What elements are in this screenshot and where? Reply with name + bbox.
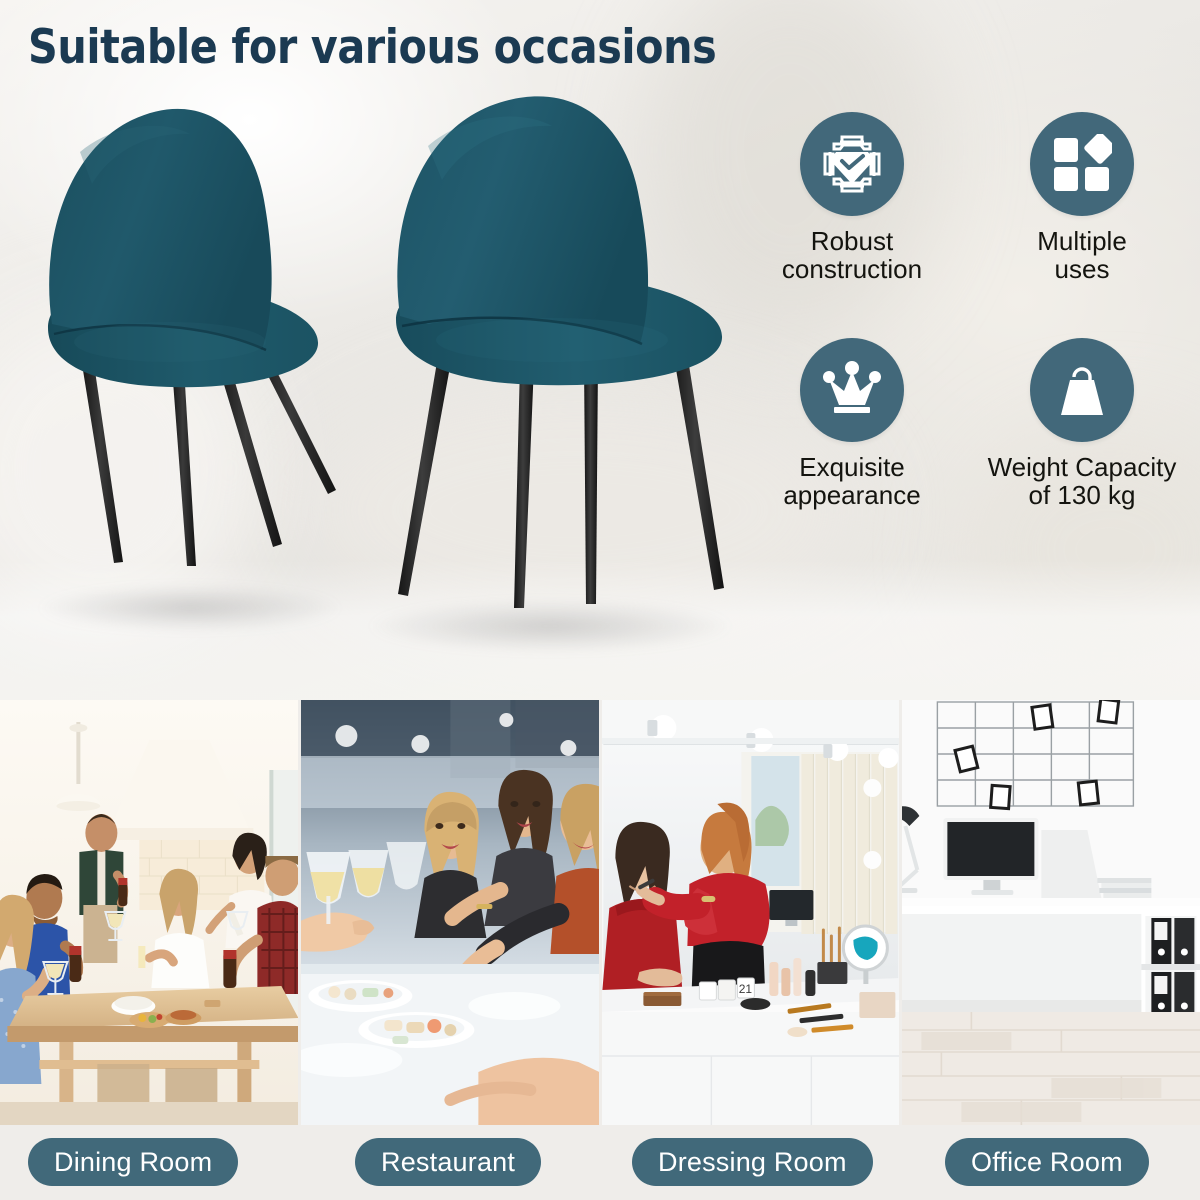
- svg-text:21: 21: [738, 982, 752, 996]
- page-title: Suitable for various occasions: [28, 20, 716, 75]
- feature-label: Exquisite appearance: [783, 454, 920, 509]
- scene-photo-dressing-room: 21: [602, 700, 900, 1125]
- hero-banner: Suitable for various occasions: [0, 0, 1200, 700]
- feature-list: Robust construction Multiple uses: [742, 112, 1192, 542]
- scene-photo-dining-room: [0, 700, 298, 1125]
- chair-illustration: [20, 92, 350, 612]
- shield-check-icon: [800, 112, 904, 216]
- chair-backrest: [49, 109, 271, 350]
- scene-photo-restaurant: [301, 700, 599, 1125]
- caption-pill-office-room[interactable]: Office Room: [945, 1138, 1149, 1186]
- feature-exquisite-appearance: Exquisite appearance: [742, 338, 962, 542]
- lifestyle-photo-strip: 21: [0, 700, 1200, 1125]
- caption-pill-dining-room[interactable]: Dining Room: [28, 1138, 238, 1186]
- product-chair-1: [20, 92, 350, 612]
- feature-label: Robust construction: [782, 228, 922, 283]
- multiple-squares-icon: [1030, 112, 1134, 216]
- crown-icon: [800, 338, 904, 442]
- scene-photo-office-room: [902, 700, 1200, 1125]
- chair-backrest: [397, 96, 648, 344]
- product-chair-2: [372, 88, 744, 633]
- chair-legs: [398, 346, 724, 608]
- scene-caption-row: Dining Room Restaurant Dressing Room Off…: [0, 1125, 1200, 1200]
- chair-illustration: [372, 88, 744, 633]
- feature-label: Multiple uses: [1037, 228, 1127, 283]
- feature-robust-construction: Robust construction: [742, 112, 962, 316]
- caption-pill-restaurant[interactable]: Restaurant: [355, 1138, 541, 1186]
- feature-multiple-uses: Multiple uses: [972, 112, 1192, 316]
- feature-weight-capacity: Weight Capacity of 130 kg: [972, 338, 1192, 542]
- caption-pill-dressing-room[interactable]: Dressing Room: [632, 1138, 873, 1186]
- feature-label: Weight Capacity of 130 kg: [988, 454, 1177, 509]
- weight-bag-icon: [1030, 338, 1134, 442]
